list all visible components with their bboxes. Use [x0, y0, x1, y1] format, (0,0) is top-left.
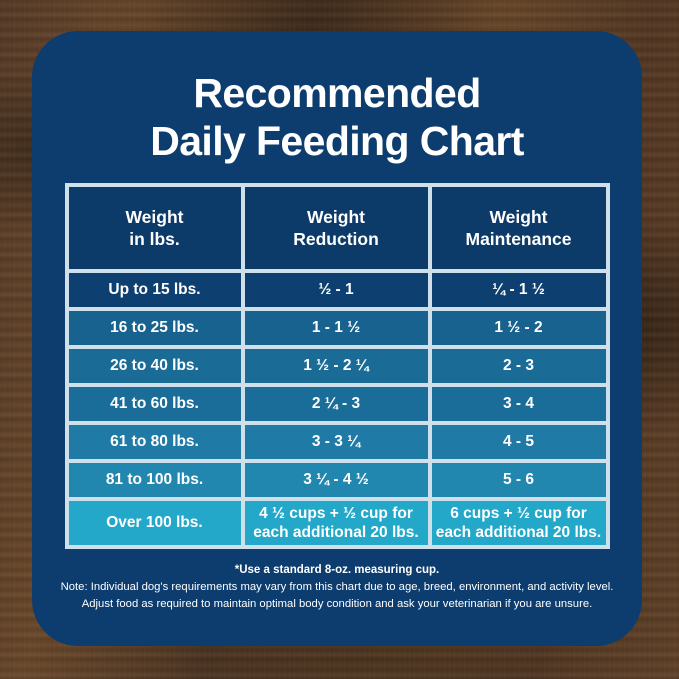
column-header-weight-line-2: in lbs. [69, 228, 241, 250]
cell-maintenance: 1 ½ - 2 [430, 309, 608, 347]
cell-maintenance: 2 - 3 [430, 347, 608, 385]
column-header-weight-line-1: Weight [125, 207, 183, 227]
column-header-maintenance-line-1: Weight [489, 207, 547, 227]
cell-weight: Over 100 lbs. [67, 499, 243, 547]
table-row: 41 to 60 lbs. 2 ¼ - 3 3 - 4 [67, 385, 608, 423]
table-header: Weight in lbs. Weight Reduction Weight M… [67, 185, 608, 271]
table-row: 61 to 80 lbs. 3 - 3 ¼ 4 - 5 [67, 423, 608, 461]
table-row: Up to 15 lbs. ½ - 1 ¼ - 1 ½ [67, 271, 608, 309]
column-header-maintenance-line-2: Maintenance [432, 228, 606, 250]
cell-weight: 61 to 80 lbs. [67, 423, 243, 461]
footnote-note-line-2: Adjust food as required to maintain opti… [48, 596, 626, 613]
cell-reduction: 3 ¼ - 4 ½ [243, 461, 430, 499]
column-header-weight: Weight in lbs. [67, 185, 243, 271]
page-title-line-2: Daily Feeding Chart [32, 118, 642, 166]
cell-weight: 26 to 40 lbs. [67, 347, 243, 385]
table-row: 16 to 25 lbs. 1 - 1 ½ 1 ½ - 2 [67, 309, 608, 347]
cell-weight: 16 to 25 lbs. [67, 309, 243, 347]
feeding-chart-card: Recommended Daily Feeding Chart Weight i… [32, 31, 642, 646]
cell-reduction: 4 ½ cups + ½ cup for each additional 20 … [243, 499, 430, 547]
table-row: Over 100 lbs. 4 ½ cups + ½ cup for each … [67, 499, 608, 547]
footnotes: *Use a standard 8-oz. measuring cup. Not… [32, 562, 642, 614]
cell-weight: 41 to 60 lbs. [67, 385, 243, 423]
table-row: 26 to 40 lbs. 1 ½ - 2 ¼ 2 - 3 [67, 347, 608, 385]
cell-maintenance: 5 - 6 [430, 461, 608, 499]
column-header-reduction-line-1: Weight [307, 207, 365, 227]
cell-maintenance: 4 - 5 [430, 423, 608, 461]
cell-maintenance: 6 cups + ½ cup for each additional 20 lb… [430, 499, 608, 547]
cell-reduction: 3 - 3 ¼ [243, 423, 430, 461]
cell-reduction: 1 ½ - 2 ¼ [243, 347, 430, 385]
page-title: Recommended Daily Feeding Chart [32, 70, 642, 166]
cell-maintenance: ¼ - 1 ½ [430, 271, 608, 309]
cell-maintenance: 3 - 4 [430, 385, 608, 423]
cell-reduction-line-1: 4 ½ cups + ½ cup for [245, 504, 428, 523]
cell-reduction: ½ - 1 [243, 271, 430, 309]
table-body: Up to 15 lbs. ½ - 1 ¼ - 1 ½ 16 to 25 lbs… [67, 271, 608, 547]
column-header-reduction-line-2: Reduction [245, 228, 428, 250]
cell-reduction: 1 - 1 ½ [243, 309, 430, 347]
table-row: 81 to 100 lbs. 3 ¼ - 4 ½ 5 - 6 [67, 461, 608, 499]
cell-maintenance-line-2: each additional 20 lbs. [432, 523, 606, 542]
cell-reduction-line-2: each additional 20 lbs. [245, 523, 428, 542]
cell-reduction: 2 ¼ - 3 [243, 385, 430, 423]
column-header-weight-reduction: Weight Reduction [243, 185, 430, 271]
column-header-weight-maintenance: Weight Maintenance [430, 185, 608, 271]
cell-weight: Up to 15 lbs. [67, 271, 243, 309]
footnote-note-line-1: Note: Individual dog's requirements may … [48, 579, 626, 596]
page-title-line-1: Recommended [32, 70, 642, 118]
feeding-chart-table: Weight in lbs. Weight Reduction Weight M… [65, 183, 610, 549]
table-header-row: Weight in lbs. Weight Reduction Weight M… [67, 185, 608, 271]
cell-weight: 81 to 100 lbs. [67, 461, 243, 499]
footnote-measuring-cup: *Use a standard 8-oz. measuring cup. [48, 562, 626, 579]
cell-maintenance-line-1: 6 cups + ½ cup for [432, 504, 606, 523]
